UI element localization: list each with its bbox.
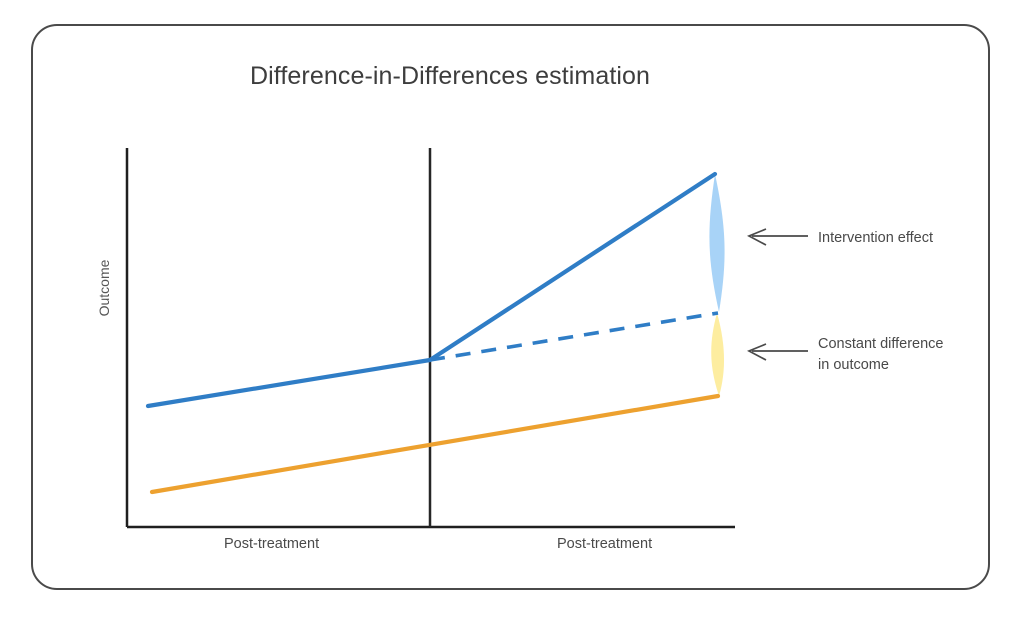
intervention-effect-band — [709, 174, 724, 312]
constant-difference-band — [711, 313, 724, 396]
treated-group-line-post — [430, 174, 715, 360]
constant-difference-arrow — [749, 344, 808, 360]
control-group-line — [152, 396, 718, 492]
diff-in-diff-chart — [0, 0, 1024, 619]
intervention-effect-arrow — [749, 229, 808, 245]
y-axis-label: Outcome — [96, 243, 112, 333]
x-axis-tick-label-post: Post-treatment — [557, 536, 652, 552]
x-axis-tick-label-pre: Post-treatment — [224, 536, 319, 552]
intervention-effect-annotation: Intervention effect — [818, 228, 933, 249]
counterfactual-dashed-line — [430, 313, 718, 360]
constant-difference-annotation: Constant difference in outcome — [818, 334, 943, 376]
treated-group-line-pre — [148, 360, 430, 406]
slide-canvas: Difference-in-Differences estimation — [0, 0, 1024, 619]
